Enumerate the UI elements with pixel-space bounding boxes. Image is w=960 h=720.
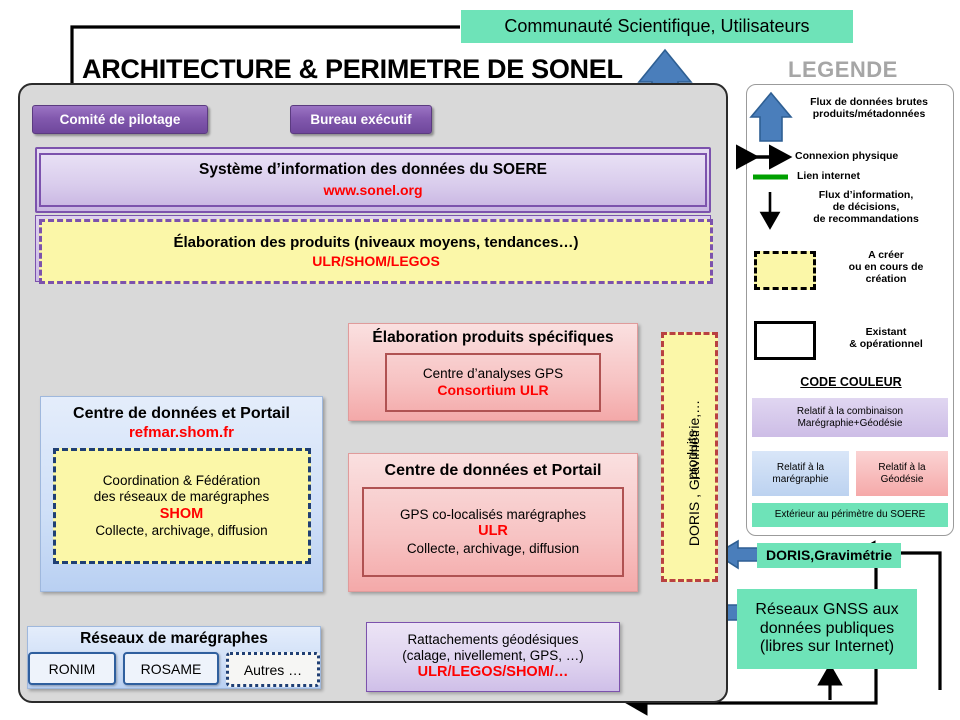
tide-inner-line3: Collecte, archivage, diffusion: [95, 523, 267, 539]
geodetic-line1: Rattachements géodésiques: [407, 632, 578, 648]
network-item-rosame-label: ROSAME: [141, 661, 202, 677]
gps-center-title: Centre de données et Portail: [385, 461, 602, 480]
color-code-entry-external: Extérieur au périmètre du SOERE: [752, 503, 948, 527]
legend-item-3-line1: Flux d’information,: [782, 190, 950, 202]
side-products-box[interactable]: produits DORIS , Gravimétrie,…: [661, 332, 718, 582]
color-code-entry-geodesy: Relatif à la Géodésie: [856, 451, 948, 496]
community-banner-label: Communauté Scientifique, Utilisateurs: [504, 16, 809, 37]
products-frame: Élaboration des produits (niveaux moyens…: [35, 215, 711, 282]
executive-board-label: Bureau exécutif: [310, 112, 411, 127]
tide-gauge-data-center-box[interactable]: Centre de données et Portail refmar.shom…: [40, 396, 323, 592]
tide-inner-line2: des réseaux de marégraphes: [94, 489, 270, 505]
network-item-autres-label: Autres …: [244, 662, 302, 678]
network-item-ronim[interactable]: RONIM: [28, 652, 116, 685]
legend-item-5-line1: Existant: [826, 327, 946, 339]
yellow-dashed-box-icon: [754, 251, 816, 290]
cc-1-line1: Relatif à la: [777, 462, 824, 474]
information-system-frame: Système d’information des données du SOE…: [35, 147, 711, 213]
products-actors: ULR/SHOM/LEGOS: [312, 253, 440, 270]
network-item-autres[interactable]: Autres …: [226, 652, 320, 687]
legend-item-3-line2: de décisions,: [782, 202, 950, 214]
specific-products-title: Élaboration produits spécifiques: [372, 329, 613, 348]
legend-item-3-line3: de recommandations: [782, 214, 950, 226]
legend-item-4-line2: ou en cours de: [826, 262, 946, 274]
doris-gravimetry-box[interactable]: DORIS,Gravimétrie: [757, 543, 901, 568]
products-title: Élaboration des produits (niveaux moyens…: [173, 234, 578, 252]
gps-data-center-box[interactable]: Centre de données et Portail GPS co-loca…: [348, 453, 638, 592]
geodetic-links-box[interactable]: Rattachements géodésiques (calage, nivel…: [366, 622, 620, 692]
specific-products-inner-box[interactable]: Centre d’analyses GPS Consortium ULR: [385, 353, 601, 412]
tide-inner-actor: SHOM: [160, 506, 204, 523]
network-item-rosame[interactable]: ROSAME: [123, 652, 219, 685]
legend-item-5-line2: & opérationnel: [826, 339, 946, 351]
tide-gauge-center-title: Centre de données et Portail: [73, 404, 290, 423]
doris-gravimetry-label: DORIS,Gravimétrie: [766, 547, 892, 563]
legend-item-0-text: Flux de données brutes produits/métadonn…: [790, 97, 948, 121]
color-code-title: CODE COULEUR: [771, 375, 931, 389]
tide-gauge-center-url: refmar.shom.fr: [129, 424, 234, 442]
tide-networks-title: Réseaux de marégraphes: [28, 630, 320, 648]
tide-gauge-center-inner-box[interactable]: Coordination & Fédération des réseaux de…: [53, 448, 311, 564]
legend-item-1-line1: Connexion physique: [795, 151, 945, 163]
legend-item-5-text: Existant & opérationnel: [826, 327, 946, 351]
side-products-line2: DORIS , Gravimétrie,…: [686, 383, 702, 563]
information-system-title: Système d’information des données du SOE…: [199, 161, 547, 180]
steering-committee-box[interactable]: Comité de pilotage: [32, 105, 208, 134]
color-code-entry-combination: Relatif à la combinaison Marégraphie+Géo…: [752, 398, 948, 437]
executive-board-box[interactable]: Bureau exécutif: [290, 105, 432, 134]
gnss-line1: Réseaux GNSS aux: [755, 601, 898, 619]
legend-item-4-line3: création: [826, 274, 946, 286]
gnss-line3: (libres sur Internet): [760, 638, 894, 656]
legend-item-1-text: Connexion physique: [795, 151, 945, 163]
gps-inner-line2: Collecte, archivage, diffusion: [407, 541, 579, 557]
geodetic-line2: (calage, nivellement, GPS, …): [402, 648, 584, 664]
legend-item-0-line2: produits/métadonnées: [790, 109, 948, 121]
gnss-networks-box[interactable]: Réseaux GNSS aux données publiques (libr…: [737, 589, 917, 669]
legend-item-2-line1: Lien internet: [797, 171, 947, 183]
information-system-box[interactable]: Système d’information des données du SOE…: [39, 153, 707, 207]
gps-inner-line1: GPS co-localisés marégraphes: [400, 507, 586, 523]
legend-item-3-text: Flux d’information, de décisions, de rec…: [782, 190, 950, 225]
legend-item-4-line1: A créer: [826, 250, 946, 262]
legend-title: LEGENDE: [788, 57, 898, 83]
specific-inner-actor: Consortium ULR: [437, 382, 548, 399]
tide-inner-line1: Coordination & Fédération: [103, 473, 261, 489]
information-system-url: www.sonel.org: [323, 182, 422, 199]
cc-2-line1: Relatif à la: [878, 462, 925, 474]
gps-center-inner-box[interactable]: GPS co-localisés marégraphes ULR Collect…: [362, 487, 624, 577]
community-banner: Communauté Scientifique, Utilisateurs: [461, 10, 853, 43]
legend-item-2-text: Lien internet: [797, 171, 947, 183]
geodetic-actors: ULR/LEGOS/SHOM/…: [418, 664, 569, 681]
specific-inner-line1: Centre d’analyses GPS: [423, 366, 563, 382]
page-title: ARCHITECTURE & PERIMETRE DE SONEL: [82, 54, 623, 85]
cc-0-line1: Relatif à la combinaison: [797, 406, 903, 418]
cc-3-line1: Extérieur au périmètre du SOERE: [775, 509, 926, 521]
color-code-entry-tide: Relatif à la marégraphie: [752, 451, 849, 496]
network-item-ronim-label: RONIM: [49, 661, 96, 677]
cc-2-line2: Géodésie: [881, 474, 924, 486]
legend-item-4-text: A créer ou en cours de création: [826, 250, 946, 285]
tide-networks-box[interactable]: Réseaux de marégraphes RONIM ROSAME Autr…: [27, 626, 321, 689]
white-solid-box-icon: [754, 321, 816, 360]
specific-products-box[interactable]: Élaboration produits spécifiques Centre …: [348, 323, 638, 421]
gps-inner-actor: ULR: [478, 523, 508, 540]
steering-committee-label: Comité de pilotage: [60, 112, 181, 127]
legend-item-0-line1: Flux de données brutes: [790, 97, 948, 109]
cc-0-line2: Marégraphie+Géodésie: [798, 418, 903, 430]
products-box[interactable]: Élaboration des produits (niveaux moyens…: [39, 219, 713, 284]
cc-1-line2: marégraphie: [772, 474, 828, 486]
gnss-line2: données publiques: [760, 620, 894, 638]
